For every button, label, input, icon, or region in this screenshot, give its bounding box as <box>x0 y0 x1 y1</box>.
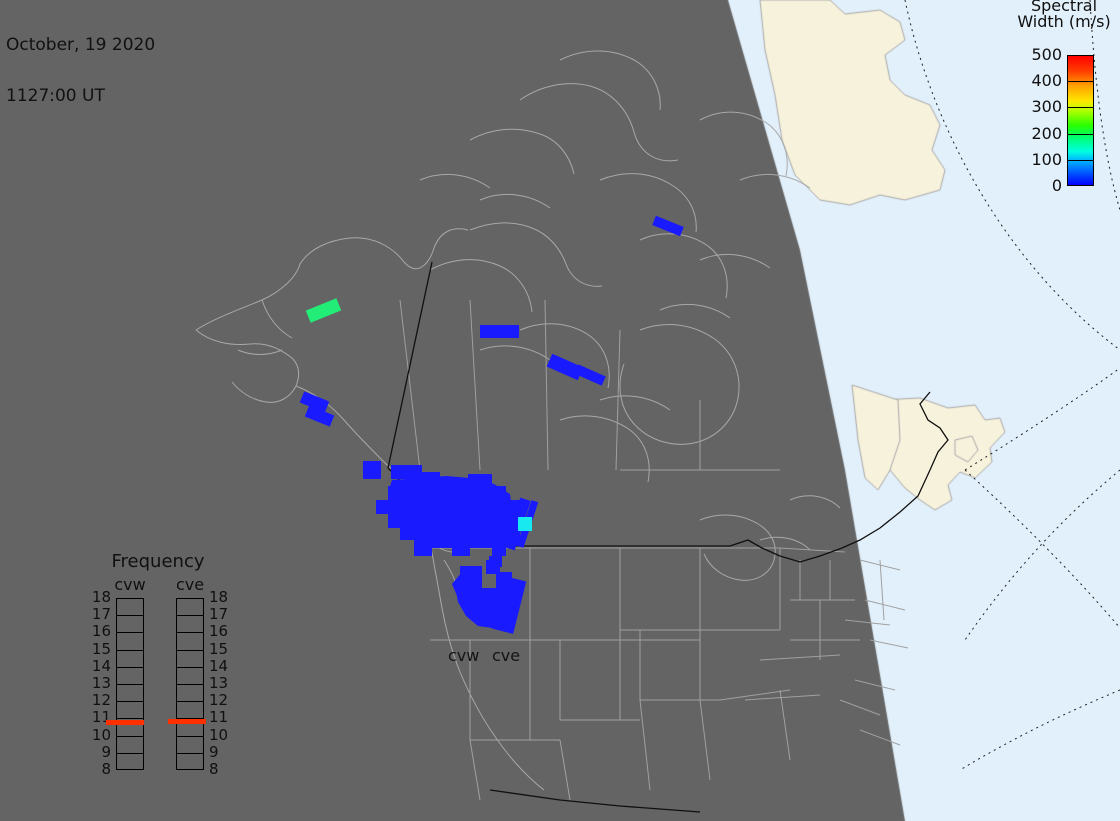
echo-beam-nunavut-b <box>574 364 605 385</box>
colorbar-tick-100: 100 <box>1031 152 1062 168</box>
frequency-label-cvw-14: 14 <box>89 659 111 674</box>
frequency-label-cve-15: 15 <box>209 642 231 657</box>
graticule-line-3 <box>965 470 1120 628</box>
country-border-3 <box>490 790 700 812</box>
coastline-3 <box>262 300 292 338</box>
timestamp: October, 19 2020 1127:00 UT <box>6 3 155 139</box>
country-border-0 <box>388 262 432 468</box>
state-border-25 <box>720 690 790 700</box>
state-border-42 <box>880 560 884 620</box>
coastline-19 <box>740 174 810 188</box>
frequency-label-cve-9: 9 <box>209 745 231 760</box>
frequency-label-cvw-9: 9 <box>89 745 111 760</box>
spectral-width-colorbar: SpectralWidth (m/s) 5004003002001000 <box>1008 0 1120 200</box>
colorbar-tick-500: 500 <box>1031 47 1062 63</box>
frequency-column-header-cve: cve <box>168 577 212 593</box>
map-site-label-cve: cve <box>492 648 520 664</box>
frequency-label-cvw-17: 17 <box>89 607 111 622</box>
coastline-11 <box>640 234 727 298</box>
frequency-tick <box>176 650 204 651</box>
frequency-label-cve-13: 13 <box>209 676 231 691</box>
frequency-tick <box>116 667 144 668</box>
frequency-tick <box>116 650 144 651</box>
colorbar-gradient <box>1067 55 1094 186</box>
coastline-18 <box>700 254 770 268</box>
frequency-tick <box>116 718 144 719</box>
state-border-32 <box>760 655 840 660</box>
frequency-label-cve-16: 16 <box>209 624 231 639</box>
echo-beam-baffin <box>652 216 684 237</box>
state-border-33 <box>745 695 820 700</box>
radar-echo-layer <box>300 216 684 634</box>
colorbar-tick-400: 400 <box>1031 73 1062 89</box>
state-border-40 <box>865 600 905 610</box>
graticule-line-2 <box>965 368 1120 470</box>
map-site-label-cvw: cvw <box>448 648 479 664</box>
state-border-47 <box>400 300 420 470</box>
echo-cell-isolated <box>363 461 381 479</box>
state-border-50 <box>616 330 620 470</box>
echo-oregon-top-cell <box>460 566 482 580</box>
state-border-45 <box>840 700 880 715</box>
colorbar-tick-200: 200 <box>1031 126 1062 142</box>
state-border-34 <box>780 690 790 760</box>
colorbar-title-line2: Width (m/s) <box>1017 12 1110 31</box>
coastline-2 <box>238 350 282 355</box>
frequency-column-header-cvw: cvw <box>108 577 152 593</box>
frequency-label-cvw-18: 18 <box>89 590 111 605</box>
colorbar-divider <box>1067 134 1094 135</box>
frequency-tick <box>116 615 144 616</box>
frequency-tick <box>116 701 144 702</box>
frequency-label-cve-12: 12 <box>209 693 231 708</box>
echo-beam-nwt <box>480 325 519 338</box>
echo-oregon-top-cell-2 <box>486 560 500 574</box>
coastline-9 <box>600 174 696 232</box>
state-border-35 <box>700 700 710 780</box>
echo-beam-alaska-green <box>306 298 341 322</box>
coastline-15 <box>600 396 670 410</box>
frequency-tick <box>176 753 204 754</box>
colorbar-title: SpectralWidth (m/s) <box>1008 0 1120 30</box>
coastline-21 <box>420 174 490 188</box>
coastline-25 <box>790 496 840 508</box>
coastline-17 <box>660 304 730 318</box>
coastline-0 <box>196 229 468 330</box>
colorbar-divider <box>1067 160 1094 161</box>
state-border-41 <box>870 640 908 648</box>
echo-cell-cyan-high-width <box>518 517 532 531</box>
state-border-48 <box>470 300 480 470</box>
frequency-label-cvw-16: 16 <box>89 624 111 639</box>
coastline-20 <box>480 194 550 208</box>
country-border-2 <box>920 392 948 470</box>
frequency-title: Frequency <box>78 553 238 571</box>
coastline-7 <box>560 51 660 110</box>
frequency-tick <box>116 684 144 685</box>
coastline-6 <box>520 84 678 161</box>
colorbar-tick-0: 0 <box>1052 178 1062 194</box>
coastline-10 <box>700 112 787 176</box>
state-border-43 <box>845 620 890 625</box>
colorbar-divider <box>1067 81 1094 82</box>
frequency-label-cvw-15: 15 <box>89 642 111 657</box>
coastline-8 <box>470 129 574 174</box>
frequency-tick <box>176 667 204 668</box>
frequency-label-cvw-10: 10 <box>89 728 111 743</box>
state-border-37 <box>560 740 570 800</box>
frequency-tick <box>116 632 144 633</box>
frequency-label-cvw-13: 13 <box>89 676 111 691</box>
state-border-49 <box>545 300 548 470</box>
frequency-tick <box>176 615 204 616</box>
state-border-36 <box>640 700 650 790</box>
frequency-tick <box>176 736 204 737</box>
frequency-label-cve-14: 14 <box>209 659 231 674</box>
frequency-label-cve-11: 11 <box>209 710 231 725</box>
timestamp-date: October, 19 2020 <box>6 37 155 54</box>
colorbar-tick-300: 300 <box>1031 99 1062 115</box>
state-border-46 <box>860 730 900 745</box>
frequency-label-cve-8: 8 <box>209 762 231 777</box>
frequency-label-cvw-8: 8 <box>89 762 111 777</box>
graticule-line-5 <box>960 690 1120 770</box>
timestamp-time: 1127:00 UT <box>6 88 155 105</box>
coastline-14 <box>480 346 550 360</box>
frequency-panel: Frequency cvw18171615141312111098cve1817… <box>78 553 238 793</box>
colorbar-divider <box>1067 107 1094 108</box>
frequency-tick <box>176 632 204 633</box>
frequency-marker-cvw <box>106 720 144 725</box>
frequency-label-cvw-12: 12 <box>89 693 111 708</box>
frequency-marker-cve <box>168 719 206 724</box>
coastline-12 <box>430 260 532 312</box>
frequency-tick <box>116 753 144 754</box>
frequency-label-cve-18: 18 <box>209 590 231 605</box>
coastline-22 <box>620 325 739 445</box>
frequency-tick <box>176 701 204 702</box>
state-border-38 <box>470 740 480 800</box>
graticule-line-4 <box>965 470 1120 640</box>
frequency-label-cve-17: 17 <box>209 607 231 622</box>
coastline-1 <box>196 330 299 402</box>
echo-fan-detached-upper <box>391 465 422 479</box>
frequency-tick <box>116 736 144 737</box>
frequency-label-cve-10: 10 <box>209 728 231 743</box>
radar-map-screenshot: October, 19 2020 1127:00 UT SpectralWidt… <box>0 0 1120 821</box>
state-border-44 <box>855 680 895 690</box>
coastline-5 <box>470 223 602 286</box>
frequency-tick <box>176 684 204 685</box>
